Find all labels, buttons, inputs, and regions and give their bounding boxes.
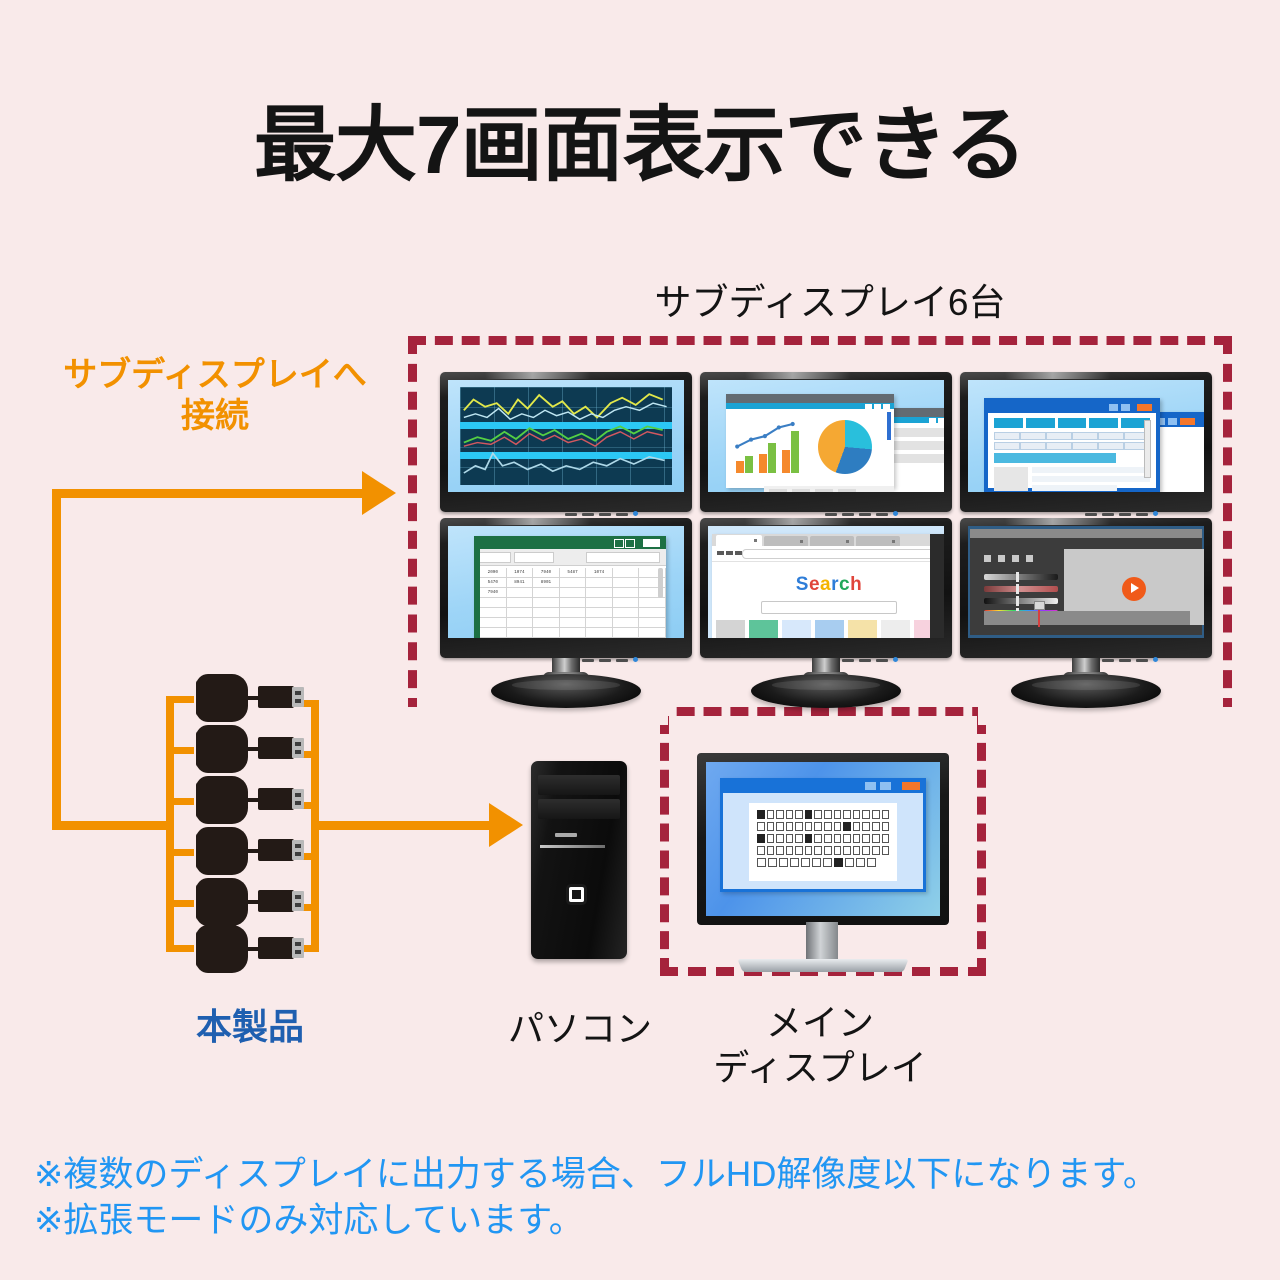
wire-adapter-stub-l5 [166,900,194,907]
reload-icon [735,551,742,555]
wire-left-bottom-horizontal [52,821,170,830]
adapter-body-icon [196,776,248,824]
app-titlebar [970,529,1202,538]
footnote-1: ※複数のディスプレイに出力する場合、フルHD解像度以下になります。 [34,1152,1264,1198]
wire-to-pc-horizontal [311,821,491,830]
window-titlebar [474,536,666,549]
logo-letter: a [820,574,831,595]
usb-plug-icon [258,890,294,912]
monitor-screen: 209010747940 54871074 547089418901 7940 [448,526,684,638]
playhead-icon[interactable] [1038,607,1040,627]
taskbar [764,486,894,492]
page-title: 最大7画面表示できる [0,78,1280,197]
drive-slot [555,833,577,837]
window-titlebar [720,778,926,793]
monitor-screen [706,762,940,916]
bezel-gloss [485,372,591,379]
usb-plug-icon [258,686,294,708]
dash-gap-left [408,707,668,725]
logo-letter: S [796,574,809,595]
usb-plug-icon [258,788,294,810]
wire-adapter-stub-l3 [166,798,194,805]
play-button-icon[interactable] [1122,577,1146,601]
bar-chart [736,425,806,473]
window-titlebar [988,402,1156,413]
wire-adapter-stub-l6 [166,945,194,952]
primary-chart-window[interactable] [726,394,894,488]
logo-letter: e [809,574,820,595]
search-input[interactable] [761,601,897,614]
usb-display-adapter-6[interactable] [196,925,268,973]
tile [815,620,844,638]
adapter-body-icon [196,925,248,973]
sub-display-3[interactable] [960,372,1212,512]
search-logo: Search [712,574,944,596]
arrow-to-pc [489,803,523,847]
formula-bar[interactable] [474,549,666,566]
bezel-gloss [485,518,591,525]
monitor-screen: Search [708,526,944,638]
monitor-base-5 [751,674,901,708]
front-panel-line [540,845,605,848]
usb-tip-icon [292,840,304,860]
monitor-controls[interactable] [560,503,680,507]
main-display[interactable] [697,753,949,925]
diagram-canvas: 最大7画面表示できる サブディスプレイ6台 サブディスプレイへ 接続 [0,0,1280,1280]
main-display-base [740,955,906,979]
tool-buttons[interactable] [984,549,1058,567]
monitor-controls[interactable] [560,649,680,653]
tile [848,620,877,638]
window-titlebar [726,394,894,403]
connect-label-line1: サブディスプレイへ [63,356,367,394]
tool-icon [998,555,1005,562]
pc-label: パソコン [465,1000,695,1052]
dash-gap-right [978,707,1236,725]
slider-contrast[interactable] [984,598,1058,604]
tool-icon [1012,555,1019,562]
power-led-icon [633,657,638,662]
usb-tip-icon [292,738,304,758]
result-tiles [712,620,944,638]
footnotes: ※複数のディスプレイに出力する場合、フルHD解像度以下になります。 ※拡張モード… [34,1152,1264,1243]
back-icon [717,551,724,555]
connect-to-sub-display-label: サブディスプレイへ 接続 [20,355,410,438]
table-row [480,608,666,618]
scrollbar[interactable] [1144,420,1151,478]
wire-adapter-stub-l1 [166,696,194,703]
pc-tower[interactable] [531,761,627,959]
text-line [757,834,889,843]
browser-tab-active[interactable] [716,535,762,546]
browser-tab-strip[interactable] [712,534,944,546]
tile [749,620,778,638]
monitor-screen [968,380,1204,492]
sub-display-2[interactable] [700,372,952,512]
usb-display-adapter-3[interactable] [196,776,268,824]
browser-window[interactable]: Search [712,534,944,638]
background-window [930,534,944,638]
primary-data-window[interactable] [984,398,1160,492]
scrollbar[interactable] [887,412,891,440]
adapter-body-icon [196,725,248,773]
tile [881,620,910,638]
table-row [994,442,1150,450]
content-area [994,467,1150,491]
trading-chart-app [460,387,672,486]
wire-adapter-stub-l2 [166,747,194,754]
tool-icon [984,555,991,562]
usb-plug-icon [258,937,294,959]
table-header-row [994,418,1150,428]
power-led-icon [893,657,898,662]
connect-label-line2: 接続 [20,396,410,437]
slider-brightness[interactable] [984,574,1058,580]
monitor-screen [968,526,1204,638]
bezel-gloss [745,372,851,379]
sub-display-4[interactable]: 209010747940 54871074 547089418901 7940 [440,518,692,658]
text-line [757,846,889,855]
wire-left-vertical [52,489,61,830]
monitor-controls[interactable] [1080,503,1200,507]
usb-tip-icon [292,687,304,707]
table-row: 547089418901 [480,578,666,588]
text-line [757,858,889,867]
document-window[interactable] [720,778,926,892]
wire-adapter-bus-left [166,696,174,952]
wire-adapter-stub-l4 [166,849,194,856]
timeline-track[interactable] [984,611,1190,625]
footnote-2: ※拡張モードのみ対応しています。 [34,1198,1264,1244]
usb-display-adapter-2[interactable] [196,725,268,773]
monitor-screen [448,380,684,492]
monitor-screen [708,380,944,492]
logo-letter: r [831,574,839,595]
chart-lines [460,387,672,486]
bezel-gloss [745,518,851,525]
main-display-label-line1: メイン [680,1000,960,1045]
document-page [749,803,897,881]
product-label: 本製品 [120,998,380,1050]
list-item [886,454,944,463]
table-row [480,618,666,628]
monitor-base-4 [491,674,641,708]
sub-display-1[interactable] [440,372,692,512]
tool-icon [1026,555,1033,562]
usb-tip-icon [292,938,304,958]
sub-display-group-label: サブディスプレイ6台 [560,272,1100,326]
table-row [480,598,666,608]
power-led-icon [1153,511,1158,516]
adapter-body-icon [196,878,248,926]
drive-bay-2 [538,799,620,819]
usb-display-adapter-5[interactable] [196,878,268,926]
adapter-body-icon [196,674,248,722]
wire-left-top-horizontal [52,489,364,498]
browser-tab[interactable] [856,536,900,546]
forward-icon [726,551,733,555]
highlighted-row [994,453,1116,463]
list-item [886,428,944,437]
adapter-body-icon [196,827,248,875]
bezel-gloss [1005,372,1111,379]
table-row: 209010747940 54871074 [480,568,666,578]
optical-drive-bay [538,775,620,795]
spreadsheet-window[interactable]: 209010747940 54871074 547089418901 7940 [474,536,666,638]
list-item [886,441,944,450]
browser-tab[interactable] [764,536,808,546]
text-line [757,810,889,819]
usb-tip-icon [292,891,304,911]
pie-chart [818,420,872,474]
tile [716,620,745,638]
power-led-icon [1153,657,1158,662]
sub-display-6[interactable] [960,518,1212,658]
main-display-label: メイン ディスプレイ [680,1000,960,1090]
power-led-icon [893,511,898,516]
table-row: 7940 [480,588,666,598]
slider-saturation[interactable] [984,586,1058,592]
text-line [757,822,889,831]
bezel-gloss [1005,518,1111,525]
usb-plug-icon [258,839,294,861]
power-button-icon[interactable] [569,887,584,902]
logo-letter: h [850,574,862,595]
table-row [994,432,1150,440]
power-led-icon [633,511,638,516]
monitor-controls[interactable] [820,649,940,653]
monitor-controls[interactable] [1080,649,1200,653]
url-input[interactable] [742,549,936,559]
browser-address-bar[interactable] [712,546,944,562]
window-sidebar [474,536,480,638]
spreadsheet-grid[interactable]: 209010747940 54871074 547089418901 7940 [474,566,666,638]
usb-tip-icon [292,789,304,809]
logo-letter: c [839,574,850,595]
monitor-base-6 [1011,674,1161,708]
arrow-to-sub-displays [362,471,396,515]
monitor-controls[interactable] [820,503,940,507]
table-row [480,628,666,638]
tile [782,620,811,638]
scrollbar[interactable] [658,568,663,598]
usb-display-adapter-1[interactable] [196,674,268,722]
browser-tab[interactable] [810,536,854,546]
main-display-label-line2: ディスプレイ [680,1045,960,1090]
usb-display-adapter-4[interactable] [196,827,268,875]
sub-display-5[interactable]: Search [700,518,952,658]
usb-plug-icon [258,737,294,759]
video-editor-app[interactable] [970,529,1202,635]
